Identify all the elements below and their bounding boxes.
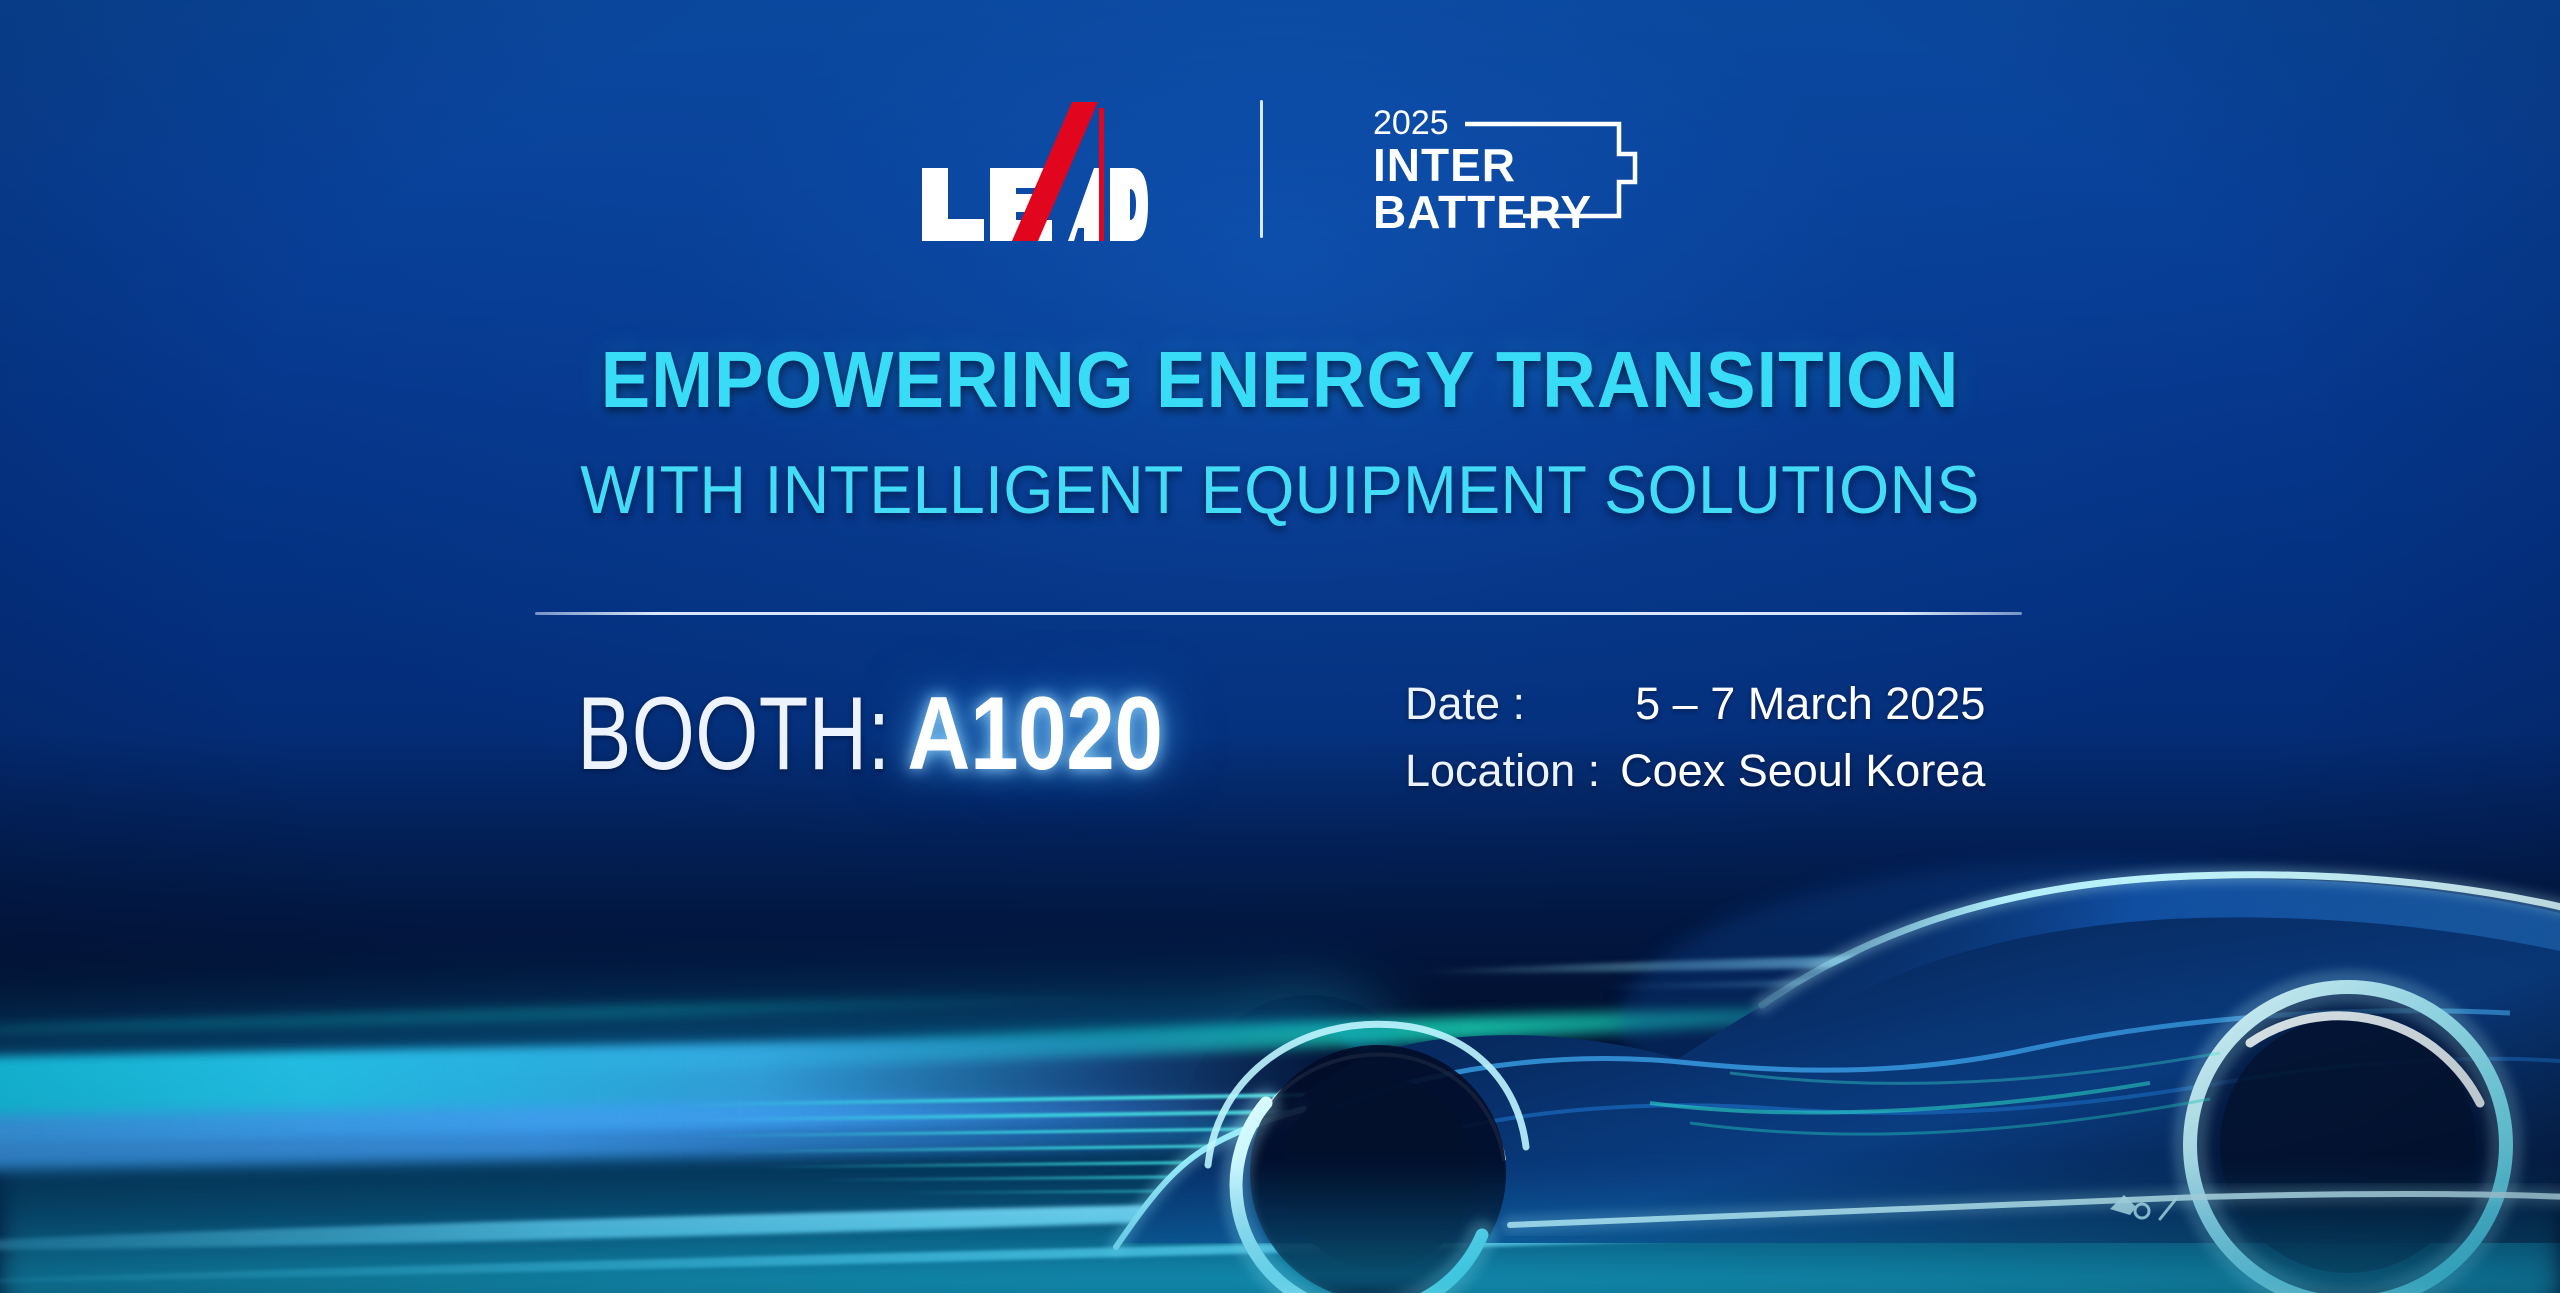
interbattery-logo-mark: 2025 INTER BATTERY	[1373, 104, 1643, 234]
date-value: 5 – 7 March 2025	[1635, 680, 1985, 727]
location-label: Location :	[1405, 747, 1600, 794]
logo-divider	[1260, 100, 1263, 238]
interbattery-line1: INTER	[1373, 139, 1516, 191]
booth-number: A1020	[907, 682, 1162, 786]
lead-logo-mark	[918, 96, 1148, 241]
date-label: Date :	[1405, 680, 1600, 727]
car-silhouette	[1090, 773, 2560, 1293]
interbattery-line2: BATTERY	[1373, 186, 1592, 234]
booth-label: BOOTH:	[577, 682, 890, 786]
event-meta: Date : 5 – 7 March 2025 Location : Coex …	[1405, 680, 1985, 795]
lead-logo	[918, 96, 1148, 241]
logo-row: 2025 INTER BATTERY	[0, 96, 2560, 241]
rear-wheel	[2190, 987, 2506, 1293]
page-title: EMPOWERING ENERGY TRANSITION	[90, 340, 2471, 420]
sports-car-illustration	[1090, 773, 2560, 1293]
info-row: BOOTH: A1020 Date : 5 – 7 March 2025 Loc…	[0, 660, 2560, 840]
location-value: Coex Seoul Korea	[1620, 747, 1985, 794]
page-subtitle: WITH INTELLIGENT EQUIPMENT SOLUTIONS	[64, 456, 2496, 524]
front-wheel	[1236, 1045, 1506, 1293]
lead-red-stem	[1099, 108, 1104, 241]
hero-text-block: EMPOWERING ENERGY TRANSITION WITH INTELL…	[0, 340, 2560, 524]
interbattery-year: 2025	[1373, 104, 1449, 142]
promo-banner: 2025 INTER BATTERY EMPOWERING ENERGY TRA…	[0, 0, 2560, 1293]
booth-block: BOOTH: A1020	[533, 682, 1187, 786]
horizontal-divider	[535, 612, 2022, 615]
interbattery-logo: 2025 INTER BATTERY	[1373, 104, 1643, 234]
